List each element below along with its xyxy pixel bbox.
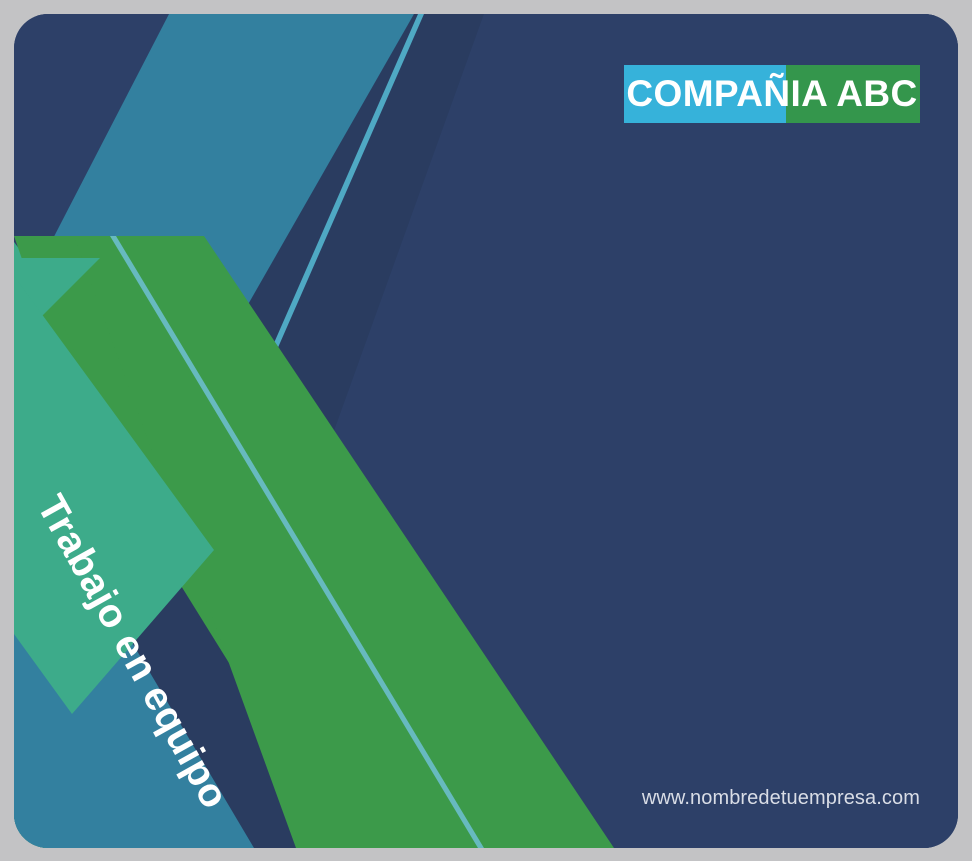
slide-card: COMPAÑIA ABC Trabajo en equipo www.nombr… [14,14,958,848]
slide-canvas: COMPAÑIA ABC Trabajo en equipo www.nombr… [0,0,972,861]
company-logo[interactable]: COMPAÑIA ABC [624,65,920,123]
background-artwork [14,14,958,848]
website-url: www.nombredetuempresa.com [642,787,920,810]
logo-text: COMPAÑIA ABC [624,65,920,123]
